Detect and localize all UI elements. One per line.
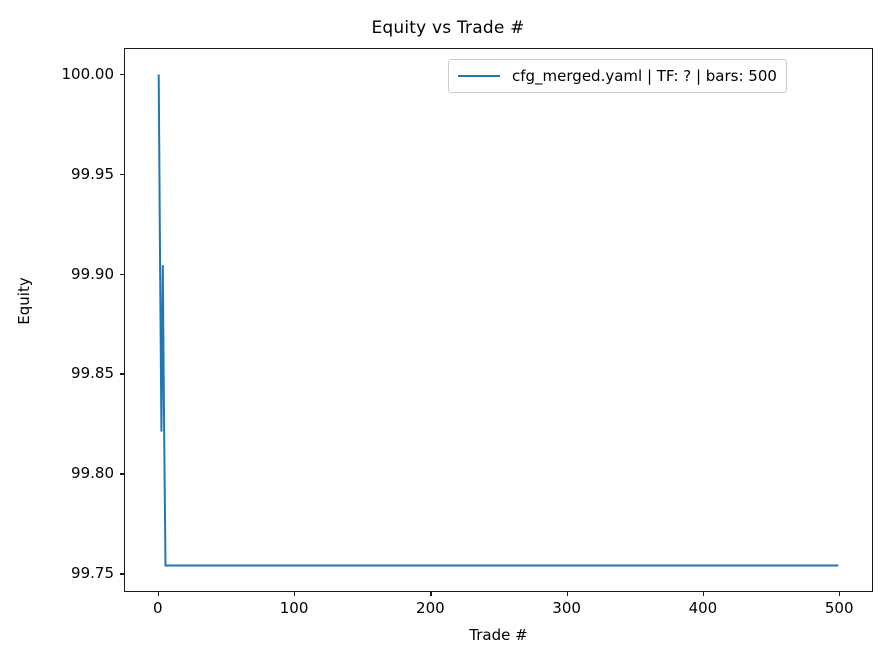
y-tick-label: 99.95 [4,165,114,183]
x-tick-label: 300 [552,599,581,617]
y-tick-mark [120,473,124,474]
x-tick-mark [430,592,431,596]
y-tick-mark [120,174,124,175]
x-tick-label: 0 [153,599,163,617]
y-tick-mark [120,274,124,275]
y-tick-label: 99.85 [4,364,114,382]
plot-axes [124,48,873,592]
x-tick-mark [703,592,704,596]
y-tick-label: 100.00 [4,65,114,83]
legend-item: cfg_merged.yaml | TF: ? | bars: 500 [458,67,777,85]
x-tick-label: 200 [416,599,445,617]
y-tick-mark [120,373,124,374]
y-tick-label: 99.75 [4,564,114,582]
x-tick-label: 400 [689,599,718,617]
x-tick-mark [158,592,159,596]
legend-item-label: cfg_merged.yaml | TF: ? | bars: 500 [512,67,777,85]
x-tick-label: 100 [280,599,309,617]
x-tick-label: 500 [825,599,854,617]
legend-color-swatch-icon [458,75,500,77]
y-axis-label: Equity [15,241,33,361]
legend: cfg_merged.yaml | TF: ? | bars: 500 [448,59,787,93]
y-tick-mark [120,573,124,574]
equity-line [159,75,839,566]
line-series-canvas [125,49,872,591]
x-tick-mark [567,592,568,596]
matplotlib-figure: Equity vs Trade # 0100200300400500 99.75… [0,0,896,672]
y-tick-label: 99.80 [4,464,114,482]
x-tick-mark [294,592,295,596]
x-tick-mark [839,592,840,596]
x-axis-label: Trade # [124,626,873,644]
page-title: Equity vs Trade # [0,18,896,38]
y-tick-mark [120,74,124,75]
